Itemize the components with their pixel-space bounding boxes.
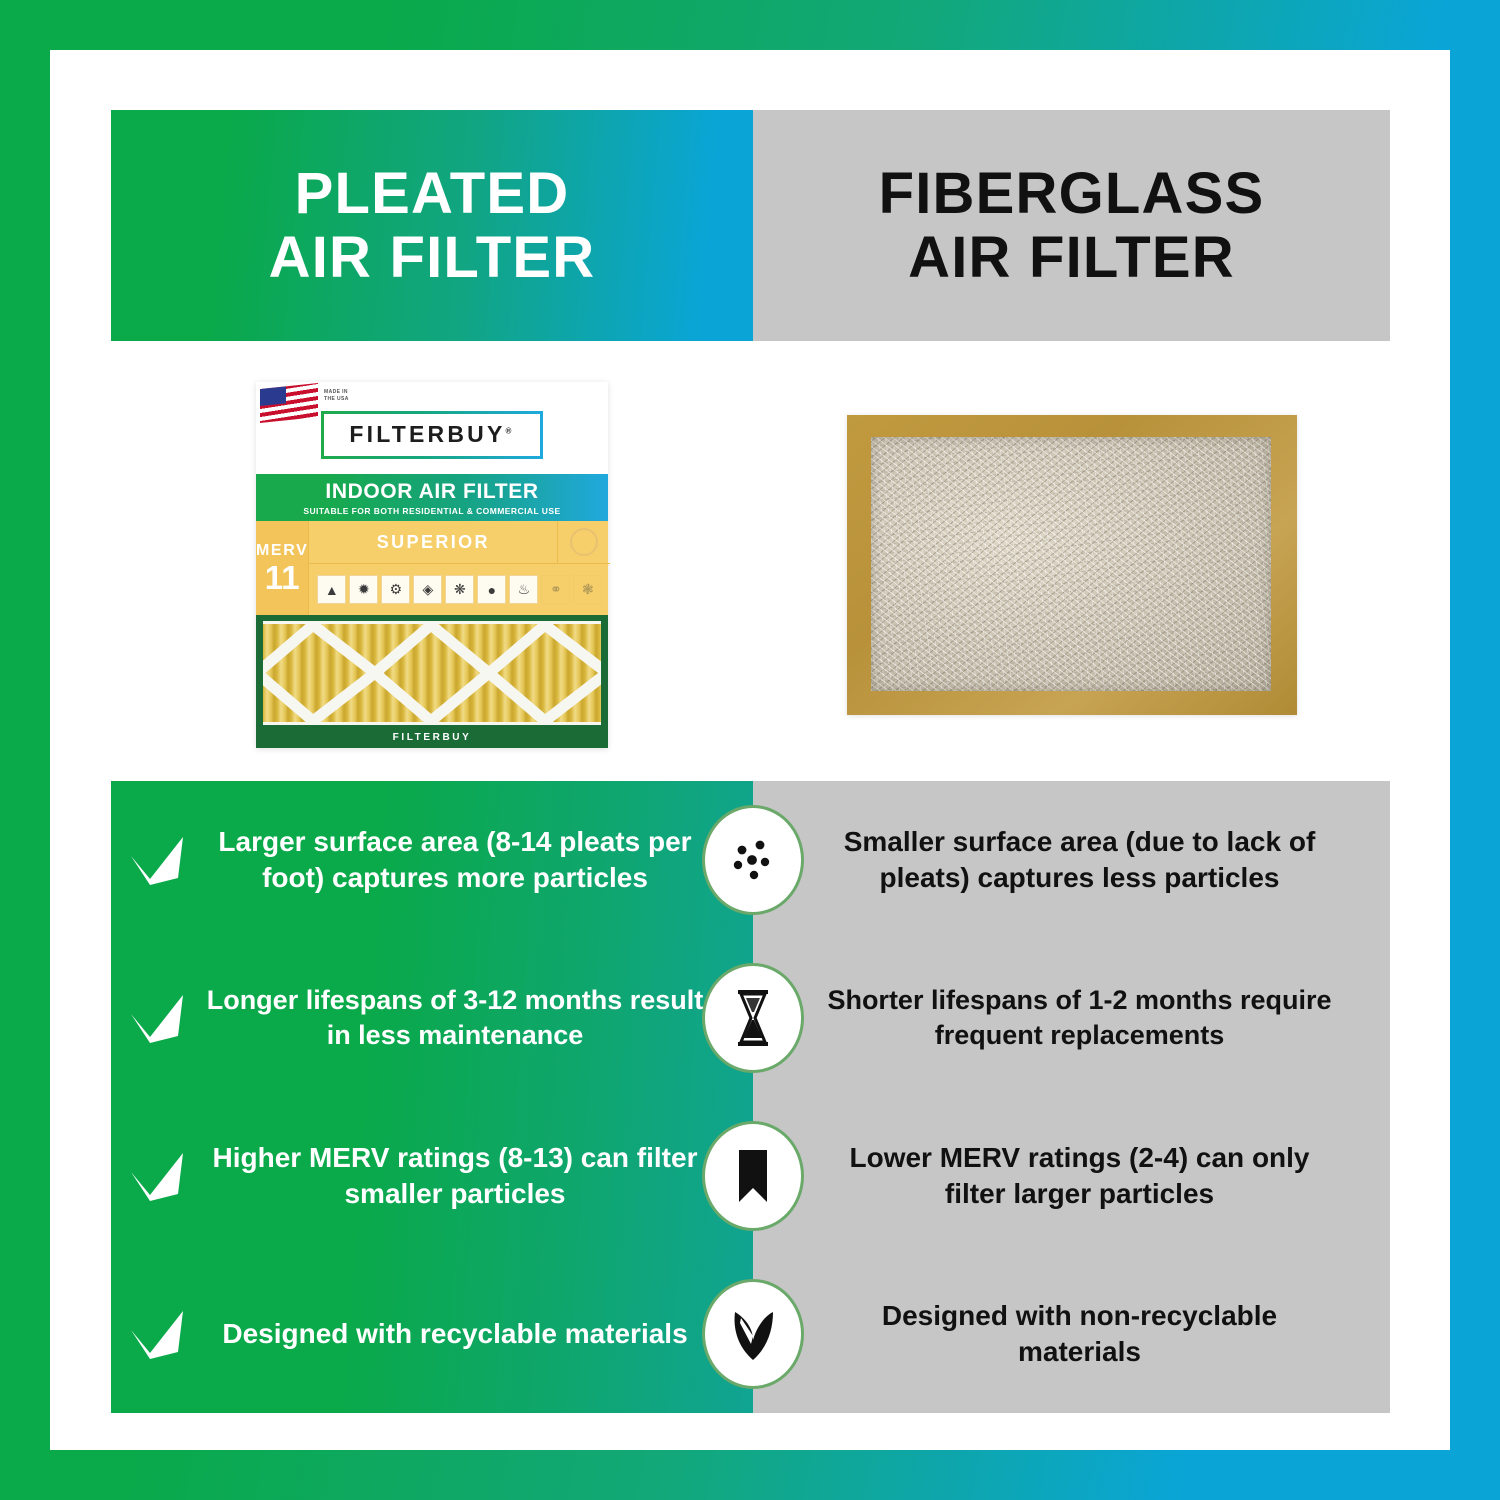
header-pleated-title: PLEATED AIR FILTER bbox=[269, 162, 596, 290]
bacteria-icon: ◈ bbox=[413, 575, 442, 604]
row-left-cell: Larger surface area (8-14 pleats per foo… bbox=[111, 824, 753, 896]
checkmark-icon bbox=[111, 1150, 203, 1202]
comparison-row: Higher MERV ratings (8-13) can filter sm… bbox=[111, 1097, 1390, 1255]
row-left-text: Designed with recyclable materials bbox=[203, 1316, 707, 1352]
virus-icon: ❋ bbox=[445, 575, 474, 604]
indoor-air-filter-band: INDOOR AIR FILTER SUITABLE FOR BOTH RESI… bbox=[256, 474, 608, 521]
checkmark-icon bbox=[111, 1308, 203, 1360]
particles-icon bbox=[702, 805, 804, 915]
odor-icon-faded: ❃ bbox=[573, 575, 602, 604]
comparison-row: Longer lifespans of 3-12 months result i… bbox=[111, 939, 1390, 1097]
white-card: PLEATED AIR FILTER FIBERGLASS AIR FILTER… bbox=[50, 50, 1450, 1450]
merv-label: MERV bbox=[256, 542, 308, 560]
merv-badge: MERV 11 bbox=[256, 521, 309, 615]
row-right-cell: Shorter lifespans of 1-2 months require … bbox=[753, 983, 1390, 1052]
row-right-text: Lower MERV ratings (2-4) can only filter… bbox=[825, 1140, 1334, 1212]
gold-pleats bbox=[263, 621, 601, 725]
tier-label: SUPERIOR bbox=[309, 532, 557, 553]
row-right-text: Smaller surface area (due to lack of ple… bbox=[825, 824, 1334, 896]
row-left-text: Higher MERV ratings (8-13) can filter sm… bbox=[203, 1140, 707, 1212]
tier-row: SUPERIOR bbox=[309, 521, 610, 564]
product-image-area: MADE IN THE USA FILTERBUY® INDOOR AIR FI… bbox=[111, 350, 1390, 780]
bookmark-icon bbox=[702, 1121, 804, 1231]
fiberglass-filter-image bbox=[847, 415, 1297, 715]
row-right-text: Shorter lifespans of 1-2 months require … bbox=[825, 983, 1334, 1052]
particle-icon-faded: ⚭ bbox=[541, 575, 570, 604]
hourglass-icon bbox=[702, 963, 804, 1073]
row-left-text: Larger surface area (8-14 pleats per foo… bbox=[203, 824, 707, 896]
pleated-media-graphic: FILTERBUY bbox=[256, 615, 608, 748]
registered-mark: ® bbox=[506, 426, 515, 435]
row-right-cell: Lower MERV ratings (2-4) can only filter… bbox=[753, 1140, 1390, 1212]
row-right-cell: Designed with non-recyclable materials bbox=[753, 1298, 1390, 1370]
header-fiberglass-panel: FIBERGLASS AIR FILTER bbox=[753, 110, 1390, 341]
smoke-icon: ♨ bbox=[509, 575, 538, 604]
feature-icon-strip: ▲ ✹ ⚙ ◈ ❋ ● ♨ ⚭ ❃ bbox=[309, 564, 610, 615]
merv-value: 11 bbox=[265, 561, 300, 594]
pet-dander-icon: ● bbox=[477, 575, 506, 604]
infographic-canvas: PLEATED AIR FILTER FIBERGLASS AIR FILTER… bbox=[0, 0, 1500, 1500]
filterbuy-logo-text: FILTERBUY® bbox=[324, 414, 540, 456]
usa-flag-icon bbox=[260, 383, 318, 423]
row-right-cell: Smaller surface area (due to lack of ple… bbox=[753, 824, 1390, 896]
checkmark-icon bbox=[111, 992, 203, 1044]
band-title: INDOOR AIR FILTER bbox=[325, 480, 538, 504]
merv-spec-section: MERV 11 SUPERIOR ▲ ✹ ⚙ bbox=[256, 521, 608, 615]
row-left-cell: Longer lifespans of 3-12 months result i… bbox=[111, 983, 753, 1052]
row-left-cell: Higher MERV ratings (8-13) can filter sm… bbox=[111, 1140, 753, 1212]
checkmark-icon bbox=[111, 834, 203, 886]
filterbuy-wordmark: FILTERBUY bbox=[349, 421, 505, 447]
header-band: PLEATED AIR FILTER FIBERGLASS AIR FILTER bbox=[111, 110, 1390, 341]
spec-main: SUPERIOR ▲ ✹ ⚙ ◈ ❋ ● ♨ ⚭ bbox=[309, 521, 610, 615]
fiberglass-media-texture bbox=[871, 437, 1271, 691]
leaf-recycle-icon bbox=[702, 1279, 804, 1389]
comparison-panel: Larger surface area (8-14 pleats per foo… bbox=[111, 781, 1390, 1413]
row-left-cell: Designed with recyclable materials bbox=[111, 1308, 753, 1360]
filterbuy-logo: FILTERBUY® bbox=[321, 411, 543, 459]
comparison-rows: Larger surface area (8-14 pleats per foo… bbox=[111, 781, 1390, 1413]
comparison-row: Designed with recyclable materials Desig… bbox=[111, 1255, 1390, 1413]
header-fiberglass-title: FIBERGLASS AIR FILTER bbox=[879, 162, 1265, 290]
box-bottom-brand: FILTERBUY bbox=[263, 732, 601, 743]
band-subtitle: SUITABLE FOR BOTH RESIDENTIAL & COMMERCI… bbox=[303, 506, 560, 516]
ul-listed-icon bbox=[557, 521, 610, 563]
pleated-product-cell: MADE IN THE USA FILTERBUY® INDOOR AIR FI… bbox=[111, 350, 753, 780]
header-pleated-panel: PLEATED AIR FILTER bbox=[111, 110, 753, 341]
comparison-row: Larger surface area (8-14 pleats per foo… bbox=[111, 781, 1390, 939]
row-right-text: Designed with non-recyclable materials bbox=[825, 1298, 1334, 1370]
dust-icon: ▲ bbox=[317, 575, 346, 604]
mold-spore-icon: ⚙ bbox=[381, 575, 410, 604]
fiberglass-product-cell bbox=[753, 350, 1390, 780]
filterbuy-box-image: MADE IN THE USA FILTERBUY® INDOOR AIR FI… bbox=[256, 382, 608, 748]
made-in-usa-label: MADE IN THE USA bbox=[324, 389, 349, 403]
row-left-text: Longer lifespans of 3-12 months result i… bbox=[203, 983, 707, 1052]
pollen-icon: ✹ bbox=[349, 575, 378, 604]
box-top-section: MADE IN THE USA FILTERBUY® bbox=[256, 382, 608, 474]
white-lattice-overlay bbox=[263, 621, 601, 725]
